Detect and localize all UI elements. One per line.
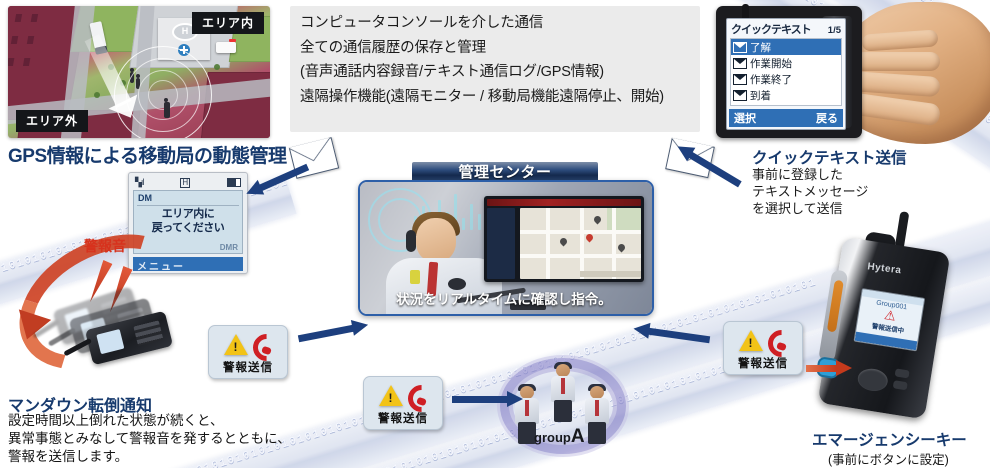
info-line: 全ての通信履歴の保存と管理 — [300, 39, 700, 58]
arrow-alarm-to-center — [298, 325, 354, 343]
group-label-text: group — [534, 430, 571, 445]
quicktext-item-label: 到着 — [750, 88, 771, 103]
map-pin-icon — [586, 234, 593, 243]
man-down-description: 設定時間以上倒れた状態が続くと、 異常事態とみなして警報音を発するとともに、 警… — [8, 412, 291, 467]
emergency-key-photo: Hytera Group001 ⚠ 警報送信中 — [812, 238, 984, 424]
battery-icon — [227, 178, 241, 187]
description-line: 異常事態とみなして警報音を発するとともに、 — [8, 430, 291, 448]
quicktext-caption-title: クイックテキスト送信 — [752, 146, 907, 168]
man-down-illustration: 警報音 — [8, 236, 218, 386]
roaming-h-icon: H — [180, 178, 190, 188]
quicktext-item-label: 作業開始 — [750, 56, 792, 71]
envelope-icon — [733, 74, 747, 85]
envelope-icon — [733, 58, 747, 69]
phone-handset-icon — [251, 333, 273, 355]
dm-status-bar: ▚ıl H — [133, 177, 243, 188]
quicktext-item-label: 了解 — [750, 40, 771, 55]
dm-message-text: エリア内に 戻ってください — [134, 208, 242, 236]
caption-line: テキストメッセージ — [752, 183, 868, 200]
phone-handset-icon — [406, 384, 428, 406]
group-name: A — [571, 426, 585, 447]
alarm-send-label: 警報送信 — [364, 410, 442, 426]
info-line: (音声通話内容録音/テキスト通信ログ/GPS情報) — [300, 63, 700, 82]
signal-bars-icon: ▚ıl — [135, 177, 143, 188]
monitor-toolbar — [580, 271, 641, 277]
caption-line: を選択して送信 — [752, 200, 868, 217]
map-pin-icon — [594, 216, 601, 225]
info-line: 遠隔操作機能(遠隔モニター / 移動局機能遠隔停止、開始) — [300, 88, 700, 107]
message-line: エリア内に — [134, 208, 242, 222]
phone-handset-icon — [766, 329, 788, 351]
quicktext-item-label: 作業終了 — [750, 72, 792, 87]
message-line: 戻ってください — [134, 222, 242, 236]
area-inside-tag: エリア内 — [192, 12, 264, 34]
quicktext-page-indicator: 1/5 — [828, 25, 841, 36]
hytera-radio: Hytera Group001 ⚠ 警報送信中 — [818, 237, 951, 420]
alarm-send-badge: 警報送信 — [723, 321, 803, 375]
emergency-button-pointer-arrow — [806, 360, 852, 376]
area-outside-tag: エリア外 — [16, 110, 88, 132]
map-pin-icon — [560, 238, 567, 247]
alarm-sound-label: 警報音 — [84, 236, 126, 256]
side-key[interactable] — [895, 368, 910, 378]
worker-figure — [584, 386, 610, 444]
side-key[interactable] — [893, 380, 908, 390]
quicktext-radio-photo: クイックテキスト 1/5 了解 作業開始 作業終了 — [712, 2, 990, 142]
quicktext-item[interactable]: 作業開始 — [731, 55, 841, 71]
ambulance-icon — [216, 42, 236, 53]
quicktext-item[interactable]: 到着 — [731, 87, 841, 103]
alarm-send-badge: 警報送信 — [208, 325, 288, 379]
city-map-illustration: H エリア内 エリア外 — [8, 6, 270, 138]
quicktext-item[interactable]: 作業終了 — [731, 71, 841, 87]
management-center-caption: 状況をリアルタイムに確認し指令。 — [360, 288, 648, 308]
quicktext-softkeys: 選択 戻る — [729, 109, 843, 127]
warning-triangle-icon — [739, 330, 763, 351]
monitor-titlebar — [487, 199, 641, 206]
group-label: groupA — [534, 426, 585, 448]
headset-icon — [406, 230, 416, 252]
gps-card-title: GPS情報による移動局の動態管理 — [8, 141, 287, 168]
softkey-back[interactable]: 戻る — [816, 110, 838, 126]
monitor-sidebar — [487, 208, 515, 279]
description-line: 警報を送信します。 — [8, 448, 291, 466]
warning-triangle-icon — [224, 334, 248, 355]
tracked-person-icon — [164, 102, 170, 118]
monitor-map-view — [520, 208, 641, 279]
description-line: 設定時間以上倒れた状態が続くと、 — [8, 412, 291, 430]
id-badge — [410, 270, 420, 284]
dm-mode-label: DM — [138, 193, 152, 203]
quicktext-header: クイックテキスト 1/5 — [727, 19, 845, 38]
emergency-key-title: エマージェンシーキー — [812, 428, 967, 450]
alarm-send-badge: 警報送信 — [363, 376, 443, 430]
alarm-send-label: 警報送信 — [209, 359, 287, 375]
worker-figure — [550, 364, 576, 422]
softkey-select[interactable]: 選択 — [734, 110, 756, 126]
diagram-canvas: 0101010101010101010101010101010101010101… — [0, 0, 990, 468]
info-line: コンピュータコンソールを介した通信 — [300, 14, 700, 33]
feature-info-block: コンピュータコンソールを介した通信 全ての通信履歴の保存と管理 (音声通話内容録… — [290, 6, 700, 132]
arrow-alarm-to-group — [452, 396, 508, 403]
gps-map-card: H エリア内 エリア外 — [8, 6, 270, 138]
quicktext-list[interactable]: 了解 作業開始 作業終了 到着 — [730, 38, 842, 106]
envelope-icon — [733, 90, 747, 101]
alarm-send-label: 警報送信 — [724, 355, 802, 371]
quicktext-item[interactable]: 了解 — [731, 39, 841, 55]
emergency-key-subtitle: (事前にボタンに設定) — [828, 449, 949, 468]
quicktext-screen: クイックテキスト 1/5 了解 作業開始 作業終了 — [726, 18, 846, 130]
dm-protocol-label: DMR — [220, 243, 238, 252]
quicktext-title: クイックテキスト — [731, 21, 811, 37]
map-pin-icon — [618, 244, 625, 253]
quicktext-caption-desc: 事前に登録した テキストメッセージ を選択して送信 — [752, 166, 868, 217]
radio-device: クイックテキスト 1/5 了解 作業開始 作業終了 — [716, 6, 862, 138]
caption-line: 事前に登録した — [752, 166, 868, 183]
console-monitor — [484, 196, 644, 282]
radio-screen: Group001 ⚠ 警報送信中 — [854, 288, 926, 351]
ok-key[interactable] — [856, 367, 889, 393]
gps-radius-ring — [148, 80, 178, 110]
warning-triangle-icon — [379, 385, 403, 406]
envelope-icon — [733, 42, 747, 53]
